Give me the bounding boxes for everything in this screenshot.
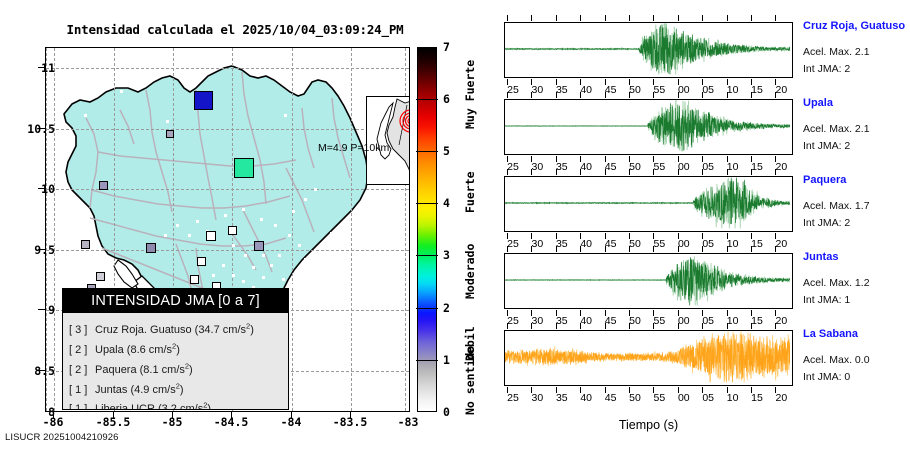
time-tick-label: 05 [695,238,721,250]
time-tick [727,15,728,21]
time-tick-label: 40 [573,161,599,173]
time-tick [556,15,557,21]
colorbar-tick-label: 3 [443,248,459,262]
station-name-label[interactable]: Cruz Roja, Guatuso [803,20,905,32]
time-tick-labels: 253035404550550005101520 [504,315,793,329]
time-tick [653,323,654,329]
time-tick-label: 50 [622,238,648,250]
time-tick-label: 45 [598,161,624,173]
city-dot [342,224,345,227]
time-tick [531,246,532,252]
station-name-label[interactable]: Paquera [803,174,846,186]
station-accel-max: Acel. Max. 1.2 [803,277,870,289]
time-tick-label: 45 [598,315,624,327]
waveform-plot-1[interactable] [504,22,793,78]
map-gridline-lon [54,48,55,411]
lat-tick-label: 9.5 [0,243,55,257]
station-int-jma: Int JMA: 1 [803,294,850,306]
time-tick [605,92,606,98]
time-tick [702,169,703,175]
footer-credit: LISUCR 20251004210926 [5,432,119,443]
city-dot [270,264,273,267]
legend-row: [ 1 ]Liberia UCR (3.2 cm/s2) [69,398,288,410]
map-gridline-lat [46,250,409,251]
time-tick [775,15,776,21]
city-dot [318,292,321,295]
time-tick [629,246,630,252]
city-dot [262,276,265,279]
time-tick [556,323,557,329]
time-tick-label: 35 [549,315,575,327]
waveform-row: 253035404550550005101520JuntasAcel. Max.… [498,253,910,331]
colorbar-tick-label: 0 [443,405,459,419]
time-axis-label: Tiempo (s) [504,418,793,432]
inset-locator-map[interactable] [366,96,410,185]
station-marker-station-sarapiqui[interactable] [254,241,264,251]
time-tick-label: 15 [744,392,770,404]
time-tick-label: 20 [768,238,794,250]
time-tick-label: 20 [768,84,794,96]
city-dot [232,274,235,277]
waveform-plot-2[interactable] [504,99,793,155]
time-tick-label: 00 [671,238,697,250]
time-tick [531,323,532,329]
intensity-colorbar: 7 6 5 4 3 2 1 0 Muy Fuerte Fuerte Modera… [417,47,492,412]
station-marker-cruz-roja-guatuso[interactable] [234,158,254,178]
time-tick-label: 25 [500,238,526,250]
time-tick [507,169,508,175]
waveform-plot-5[interactable] [504,330,793,386]
page-title: Intensidad calculada el 2025/10/04_03:09… [0,22,470,37]
time-tick-label: 05 [695,315,721,327]
city-dot [212,274,215,277]
time-tick-label: 10 [720,84,746,96]
map-gridline-lon [46,48,47,411]
time-tick-label: 25 [500,161,526,173]
time-tick-label: 05 [695,392,721,404]
lon-tick-label: -83 [373,415,443,429]
station-marker-station-nw-1[interactable] [81,240,90,249]
station-name-label[interactable]: Upala [803,97,833,109]
station-int-jma: Int JMA: 2 [803,63,850,75]
time-tick-label: 45 [598,238,624,250]
colorbar-tick-label: 2 [443,301,459,315]
colorbar-gradient [417,47,437,412]
time-tick-label: 15 [744,238,770,250]
city-dot [224,214,227,217]
time-tick [556,246,557,252]
waveform-plot-3[interactable] [504,176,793,232]
time-tick [531,92,532,98]
lat-tick-label: 11 [0,61,55,75]
time-tick-labels: 253035404550550005101520 [504,161,793,175]
time-tick-label: 05 [695,84,721,96]
time-tick-label: 35 [549,84,575,96]
station-marker-station-c-2[interactable] [206,231,216,241]
time-tick-label: 50 [622,84,648,96]
time-tick-label: 00 [671,161,697,173]
lat-tick-label: 10.5 [0,122,55,136]
time-tick [678,323,679,329]
intensity-legend: INTENSIDAD JMA [0 a 7] [ 3 ]Cruz Roja. G… [62,288,289,410]
time-tick-label: 20 [768,392,794,404]
legend-row: [ 2 ]Upala (8.6 cm/s2) [69,338,288,358]
city-dot [196,220,199,223]
time-tick-label: 55 [646,238,672,250]
legend-row-level: [ 1 ] [69,402,95,410]
legend-title: INTENSIDAD JMA [0 a 7] [63,289,288,313]
time-tick-label: 55 [646,161,672,173]
legend-row: [ 2 ]Paquera (8.1 cm/s2) [69,358,288,378]
city-dot [232,244,235,247]
lat-tick-label: 9 [0,303,55,317]
city-dot [298,244,301,247]
legend-row-level: [ 3 ] [69,323,95,338]
city-dot [290,284,293,287]
time-tick [751,169,752,175]
city-dot [84,114,87,117]
time-tick [678,15,679,21]
time-tick-label: 35 [549,161,575,173]
city-dot [292,210,295,213]
time-tick-label: 10 [720,315,746,327]
city-dot [242,280,245,283]
time-tick [653,15,654,21]
time-tick-label: 30 [524,392,550,404]
legend-row: [ 1 ]Juntas (4.9 cm/s2) [69,378,288,398]
time-tick-label: 20 [768,315,794,327]
station-name-label[interactable]: La Sabana [803,328,858,340]
time-tick-label: 30 [524,238,550,250]
time-tick-label: 00 [671,84,697,96]
city-dot [314,188,317,191]
city-dot [252,266,255,269]
time-tick-label: 40 [573,238,599,250]
time-tick-label: 25 [500,84,526,96]
time-tick-label: 55 [646,392,672,404]
city-dot [244,254,247,257]
time-tick [653,169,654,175]
time-tick-label: 45 [598,392,624,404]
time-tick [605,15,606,21]
waveform-row: 253035404550550005101520PaqueraAcel. Max… [498,176,910,254]
time-tick [629,15,630,21]
time-tick-label: 50 [622,315,648,327]
station-marker-station-n-1[interactable] [166,130,174,138]
time-tick-label: 20 [768,161,794,173]
station-int-jma: Int JMA: 2 [803,217,850,229]
time-tick-label: 50 [622,392,648,404]
colorbar-tick-label: 1 [443,353,459,367]
waveform-row: 253035404550550005101520La SabanaAcel. M… [498,330,910,408]
time-tick [507,246,508,252]
city-dot [310,306,313,309]
lat-tick-label: 10 [0,182,55,196]
station-marker-station-c-5[interactable] [190,275,199,284]
time-tick [580,169,581,175]
colorbar-tick-label: 7 [443,40,459,54]
map-panel: Intensidad calculada el 2025/10/04_03:09… [0,0,470,460]
time-tick-label: 10 [720,161,746,173]
time-tick-label: 25 [500,315,526,327]
waveform-trace-graphic [505,177,790,229]
time-tick-label: 10 [720,392,746,404]
station-accel-max: Acel. Max. 2.1 [803,123,870,135]
station-marker-station-liberia-ucr[interactable] [99,181,108,190]
time-tick [775,323,776,329]
time-tick [531,169,532,175]
city-dot [284,114,287,117]
station-int-jma: Int JMA: 2 [803,140,850,152]
city-dot [188,234,191,237]
time-tick [751,246,752,252]
time-tick [653,92,654,98]
time-tick-label: 10 [720,238,746,250]
time-tick [678,169,679,175]
time-tick [531,15,532,21]
time-tick [702,15,703,21]
station-marker-station-paquera[interactable] [146,243,156,253]
time-tick-label: 55 [646,315,672,327]
station-name-label[interactable]: Juntas [803,251,838,263]
station-marker-upala[interactable] [194,91,213,110]
time-tick [678,92,679,98]
magnitude-depth-label: M=4.9 P=10km [318,142,389,154]
time-tick-label: 35 [549,392,575,404]
time-tick-label: 15 [744,315,770,327]
map-gridline-lat [46,129,409,130]
waveform-trace-graphic [505,23,790,75]
legend-row-level: [ 2 ] [69,363,95,378]
station-accel-max: Acel. Max. 0.0 [803,354,870,366]
city-dot [322,314,325,317]
inset-map-graphic [367,97,410,185]
legend-station-list: [ 3 ]Cruz Roja. Guatuso (34.7 cm/s2)[ 2 … [63,313,288,410]
waveform-trace-graphic [505,254,790,306]
station-int-jma: Int JMA: 0 [803,371,850,383]
city-dot [120,90,123,93]
time-tick [507,92,508,98]
map-gridline-lat [46,68,409,69]
legend-row-station: Upala (8.6 cm/s2) [95,344,180,356]
colorbar-category-label: Fuerte [463,139,477,213]
time-tick [751,92,752,98]
time-tick [775,92,776,98]
time-tick [580,246,581,252]
waveform-trace-graphic [505,100,790,152]
time-tick [629,92,630,98]
time-tick-labels: 253035404550550005101520 [504,392,793,406]
time-tick [751,15,752,21]
time-tick [629,323,630,329]
time-tick [727,246,728,252]
time-tick [653,246,654,252]
waveform-trace-graphic [505,331,790,383]
time-tick [678,246,679,252]
colorbar-category-label: Moderado [463,215,477,299]
time-tick-label: 30 [524,161,550,173]
station-marker-station-c-4[interactable] [197,257,206,266]
time-tick [580,92,581,98]
waveform-row: 253035404550550005101520UpalaAcel. Max. … [498,99,910,177]
time-tick [605,246,606,252]
time-tick [727,92,728,98]
time-tick-label: 30 [524,315,550,327]
legend-row-station: Paquera (8.1 cm/s2) [95,364,193,376]
waveform-plot-4[interactable] [504,253,793,309]
time-tick [556,169,557,175]
colorbar-tick-label: 6 [443,92,459,106]
time-tick-label: 40 [573,392,599,404]
city-dot [296,270,299,273]
city-dot [282,278,285,281]
city-dot [262,254,265,257]
station-accel-max: Acel. Max. 1.7 [803,200,870,212]
time-tick [702,323,703,329]
map-gridline-lon [292,48,293,411]
city-dot [334,304,337,307]
time-tick-label: 00 [671,392,697,404]
time-tick [629,169,630,175]
station-marker-station-nw-2[interactable] [96,272,105,281]
time-tick [605,323,606,329]
time-tick-label: 30 [524,84,550,96]
time-tick [702,246,703,252]
colorbar-category-label: Muy Fuerte [463,45,477,129]
colorbar-tick-label: 5 [443,144,459,158]
lat-tick-label: 8.5 [0,364,55,378]
city-dot [222,264,225,267]
time-tick [580,323,581,329]
colorbar-tick-label: 4 [443,196,459,210]
time-tick-label: 40 [573,84,599,96]
station-accel-max: Acel. Max. 2.1 [803,46,870,58]
time-tick [702,92,703,98]
time-tick [775,169,776,175]
time-tick-label: 45 [598,84,624,96]
time-tick [727,169,728,175]
city-dot [304,258,307,261]
legend-row: [ 3 ]Cruz Roja. Guatuso (34.7 cm/s2) [69,318,288,338]
time-tick-label: 25 [500,392,526,404]
city-dot [308,280,311,283]
map-gridline-lon [351,48,352,411]
legend-row-level: [ 2 ] [69,343,95,358]
city-dot [242,208,245,211]
time-tick-label: 40 [573,315,599,327]
time-tick-label: 15 [744,161,770,173]
city-dot [166,120,169,123]
city-dot [278,254,281,257]
colorbar-category-label: No sentido [463,343,477,415]
time-tick [580,15,581,21]
time-tick [507,15,508,21]
time-tick-labels: 253035404550550005101520 [504,238,793,252]
time-tick-label: 15 [744,84,770,96]
city-dot [304,198,307,201]
time-tick [507,323,508,329]
time-tick-label: 55 [646,84,672,96]
city-dot [176,224,179,227]
time-tick [556,92,557,98]
time-tick-label: 35 [549,238,575,250]
time-tick [751,323,752,329]
legend-row-station: Cruz Roja. Guatuso (34.7 cm/s2) [95,324,254,336]
time-tick-label: 00 [671,315,697,327]
city-dot [330,232,333,235]
time-tick-label: 50 [622,161,648,173]
time-tick [605,169,606,175]
city-dot [274,224,277,227]
station-marker-station-c-3[interactable] [228,226,237,235]
legend-row-station: Liberia UCR (3.2 cm/s2) [95,403,211,410]
time-tick [775,246,776,252]
time-tick [727,323,728,329]
time-tick-labels: 253035404550550005101520 [504,84,793,98]
time-tick-label: 05 [695,161,721,173]
legend-row-level: [ 1 ] [69,383,95,398]
legend-row-station: Juntas (4.9 cm/s2) [95,384,184,396]
waveform-panel: 253035404550550005101520Cruz Roja, Guatu… [498,0,910,460]
city-dot [164,234,167,237]
city-dot [260,218,263,221]
city-dot [288,234,291,237]
waveform-row: 253035404550550005101520Cruz Roja, Guatu… [498,22,910,100]
